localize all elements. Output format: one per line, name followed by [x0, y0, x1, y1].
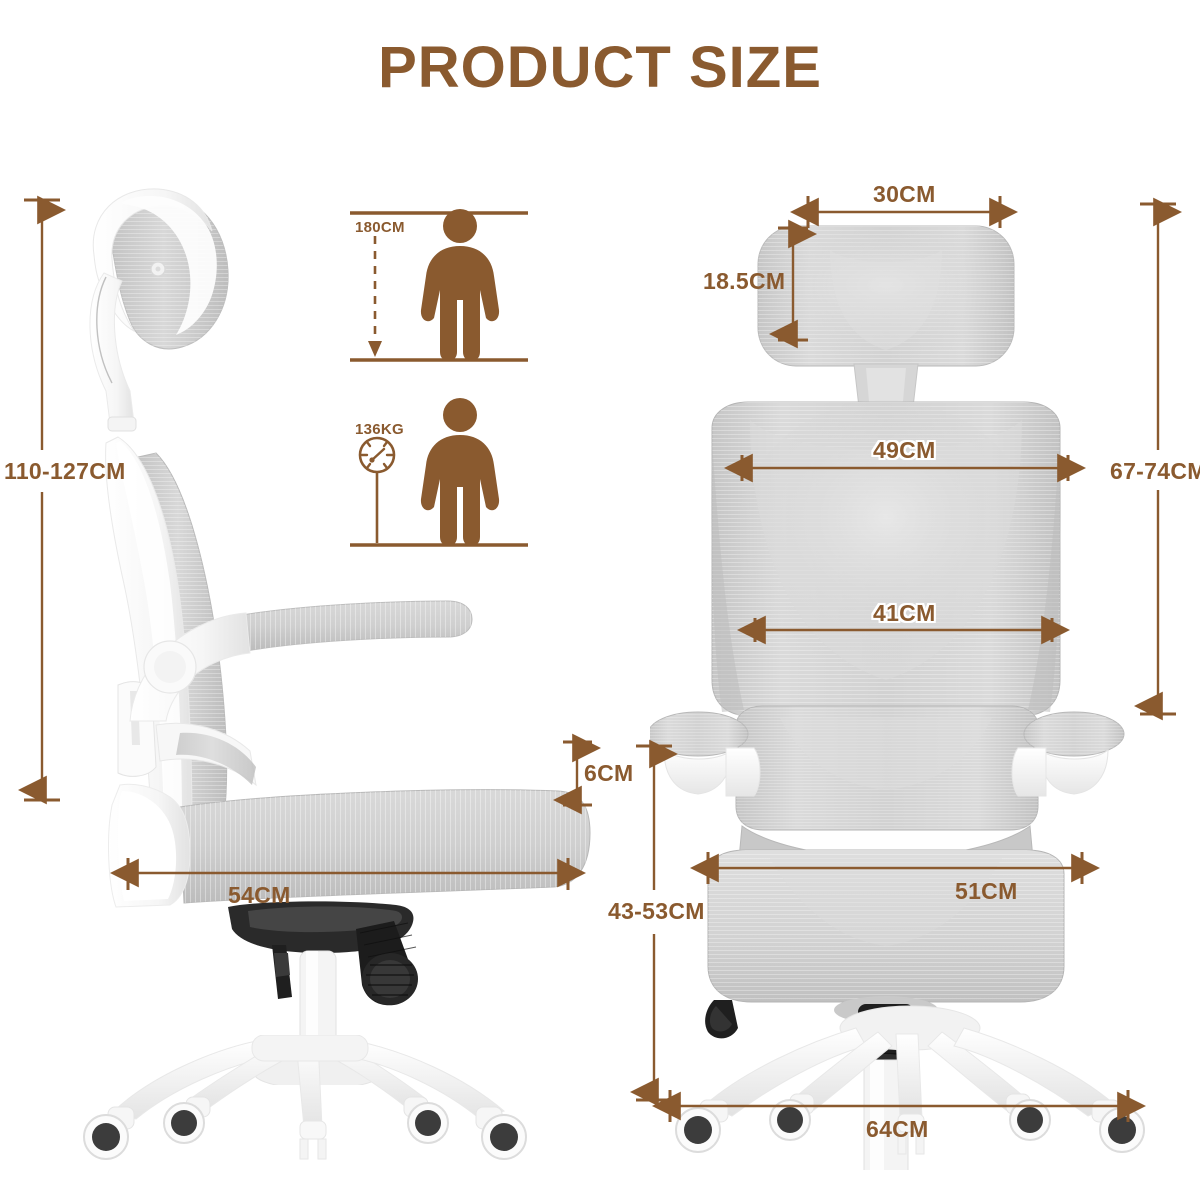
dimension-label-seat-width: 51CM: [955, 878, 1018, 905]
capacity-label-weight: 136KG: [355, 421, 404, 438]
dimension-label-seat-thickness: 6CM: [584, 760, 633, 787]
chair-side-view-illustration: [60, 185, 620, 1085]
dimension-label-base-width: 64CM: [866, 1116, 929, 1143]
dimension-label-lumbar-width: 41CM: [873, 600, 936, 627]
dimension-label-base-depth: 54CM: [228, 882, 291, 909]
page-title: PRODUCT SIZE: [0, 34, 1200, 101]
dimension-label-headrest-width: 30CM: [873, 181, 936, 208]
capacity-label-height: 180CM: [355, 219, 405, 236]
dimension-label-backrest-height: 67-74CM: [1110, 458, 1200, 485]
chair-side-view-base: [60, 1035, 620, 1165]
dimension-label-total-height: 110-127CM: [4, 458, 126, 485]
dimension-label-headrest-height: 18.5CM: [703, 268, 785, 295]
dimension-label-backrest-width: 49CM: [873, 437, 936, 464]
dimension-label-seat-height: 43-53CM: [608, 898, 705, 925]
chair-front-view-base: [650, 1000, 1170, 1180]
